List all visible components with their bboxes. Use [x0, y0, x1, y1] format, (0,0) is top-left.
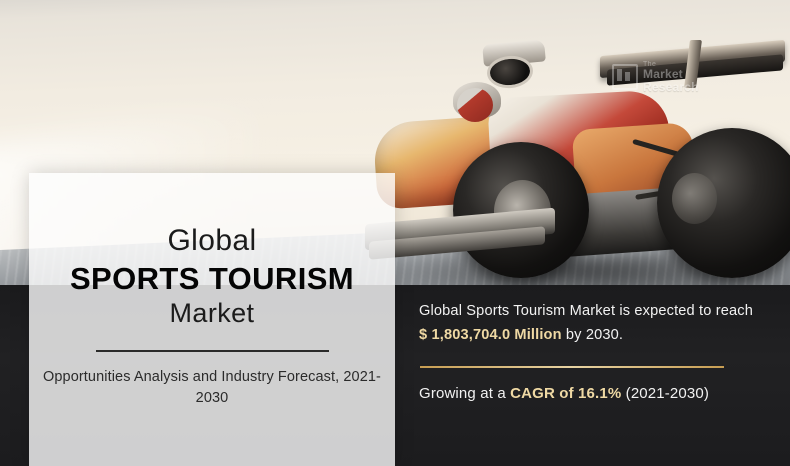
page-title: SPORTS TOURISM — [70, 261, 354, 297]
title-suffix: Market — [170, 299, 255, 329]
cagr-label: CAGR of — [510, 385, 574, 402]
market-size-statement: Global Sports Tourism Market is expected… — [419, 300, 759, 347]
market-size-value: $ 1,803,704.0 Million — [419, 327, 562, 343]
infographic-banner: The Market Research Global SPORTS TOURIS… — [0, 0, 790, 466]
cagr-value: 16.1% — [578, 385, 621, 402]
cagr-statement: Growing at a CAGR of 16.1% (2021-2030) — [419, 385, 759, 402]
title-card: Global SPORTS TOURISM Market Opportuniti… — [29, 173, 395, 466]
driver-helmet — [457, 88, 493, 122]
market-size-prefix: Global Sports Tourism Market is expected… — [419, 303, 753, 319]
cagr-period: (2021-2030) — [626, 385, 709, 402]
market-size-suffix: by 2030. — [566, 327, 623, 343]
market-stats-panel: Global Sports Tourism Market is expected… — [419, 300, 759, 402]
stats-divider — [420, 366, 724, 368]
cagr-prefix: Growing at a — [419, 385, 506, 402]
title-eyebrow: Global — [167, 225, 256, 257]
title-subtitle: Opportunities Analysis and Industry Fore… — [42, 367, 382, 410]
title-divider — [96, 350, 329, 352]
formula-one-car-illustration — [395, 20, 790, 295]
